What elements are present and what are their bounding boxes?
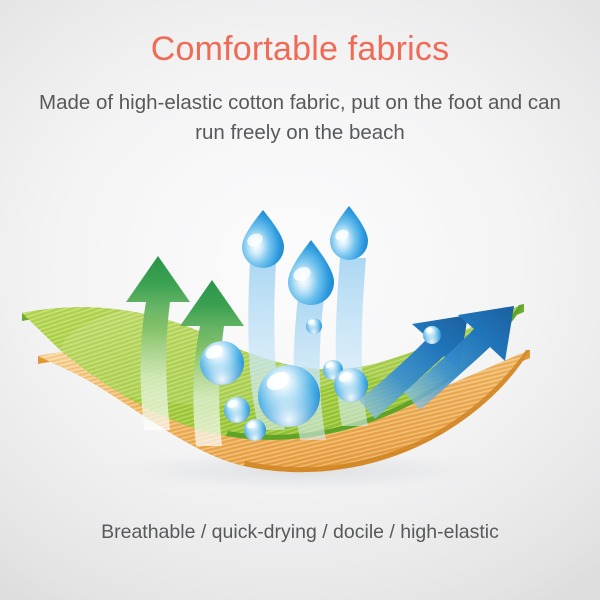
fabric-illustration bbox=[0, 178, 600, 498]
page-title: Comfortable fabrics bbox=[0, 28, 600, 70]
rising-droplet-2 bbox=[288, 240, 334, 305]
rising-droplet-3 bbox=[330, 206, 368, 260]
surface-droplet-4 bbox=[244, 419, 266, 441]
surface-droplet-7 bbox=[423, 326, 441, 344]
surface-droplet-3 bbox=[224, 397, 250, 423]
surface-droplet-6 bbox=[334, 368, 368, 402]
surface-droplet-2 bbox=[258, 365, 320, 427]
surface-droplet-1 bbox=[200, 341, 244, 385]
rising-droplet-1 bbox=[242, 210, 284, 268]
product-feature-card: Comfortable fabrics Made of high-elastic… bbox=[0, 0, 600, 600]
surface-droplet-8 bbox=[306, 318, 322, 334]
feature-caption: Breathable / quick-drying / docile / hig… bbox=[20, 518, 580, 546]
page-subtitle: Made of high-elastic cotton fabric, put … bbox=[24, 88, 576, 148]
